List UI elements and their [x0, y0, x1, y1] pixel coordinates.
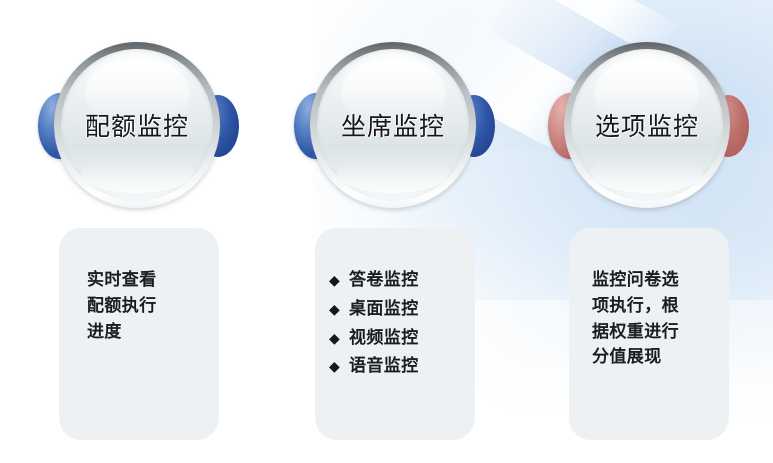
- list-item-label: 答卷监控: [349, 268, 419, 294]
- list-item-label: 桌面监控: [349, 297, 419, 323]
- bullet-list-seat: ◆ 答卷监控 ◆ 桌面监控 ◆ 视频监控 ◆ 语音监控: [315, 268, 475, 380]
- panel-body-option: 监控问卷选 项执行，根 据权重进行 分值展现: [569, 228, 729, 371]
- glass-circle-frame: 配额监控: [54, 42, 220, 208]
- panel-line: 进度: [87, 320, 191, 346]
- list-item-label: 语音监控: [349, 354, 419, 380]
- diamond-bullet-icon: ◆: [329, 357, 349, 378]
- list-item: ◆ 桌面监控: [329, 297, 475, 323]
- glass-bottom-glow-icon: [337, 154, 449, 194]
- list-item: ◆ 答卷监控: [329, 268, 475, 294]
- panel-line: 据权重进行: [592, 320, 706, 346]
- slide-canvas: 配额监控 实时查看 配额执行 进度 坐席监控: [0, 0, 773, 463]
- glass-circle-inner: [317, 49, 469, 201]
- glass-highlight-icon: [595, 58, 698, 125]
- panel-paragraph-quota: 实时查看 配额执行 进度: [87, 268, 191, 345]
- panel-body-quota: 实时查看 配额执行 进度: [59, 228, 219, 345]
- glass-highlight-icon: [341, 58, 444, 125]
- diamond-bullet-icon: ◆: [329, 300, 349, 321]
- glass-bottom-glow-icon: [81, 154, 193, 194]
- glass-circle-inner: [61, 49, 213, 201]
- column-option-monitoring: 选项监控 监控问卷选 项执行，根 据权重进行 分值展现: [520, 0, 773, 463]
- list-item: ◆ 视频监控: [329, 326, 475, 352]
- panel-quota-monitoring: 实时查看 配额执行 进度: [59, 228, 219, 440]
- badge-quota-monitoring[interactable]: 配额监控: [32, 42, 247, 210]
- column-quota-monitoring: 配额监控 实时查看 配额执行 进度: [10, 0, 268, 463]
- panel-option-monitoring: 监控问卷选 项执行，根 据权重进行 分值展现: [569, 228, 729, 440]
- glass-circle-frame: 坐席监控: [310, 42, 476, 208]
- panel-seat-monitoring: ◆ 答卷监控 ◆ 桌面监控 ◆ 视频监控 ◆ 语音监控: [315, 228, 475, 440]
- diamond-bullet-icon: ◆: [329, 271, 349, 292]
- panel-body-seat: ◆ 答卷监控 ◆ 桌面监控 ◆ 视频监控 ◆ 语音监控: [315, 228, 475, 383]
- list-item: ◆ 语音监控: [329, 354, 475, 380]
- panel-line: 监控问卷选: [592, 268, 706, 294]
- diamond-bullet-icon: ◆: [329, 329, 349, 350]
- panel-line: 实时查看: [87, 268, 191, 294]
- panel-paragraph-option: 监控问卷选 项执行，根 据权重进行 分值展现: [592, 268, 706, 371]
- panel-line: 项执行，根: [592, 294, 706, 320]
- badge-seat-monitoring[interactable]: 坐席监控: [288, 42, 503, 210]
- glass-circle-frame: 选项监控: [564, 42, 730, 208]
- glass-highlight-icon: [85, 58, 188, 125]
- glass-bottom-glow-icon: [591, 154, 703, 194]
- glass-circle-inner: [571, 49, 723, 201]
- badge-option-monitoring[interactable]: 选项监控: [542, 42, 757, 210]
- column-seat-monitoring: 坐席监控 ◆ 答卷监控 ◆ 桌面监控 ◆ 视频监控: [266, 0, 524, 463]
- list-item-label: 视频监控: [349, 326, 419, 352]
- panel-line: 分值展现: [592, 345, 706, 371]
- panel-line: 配额执行: [87, 294, 191, 320]
